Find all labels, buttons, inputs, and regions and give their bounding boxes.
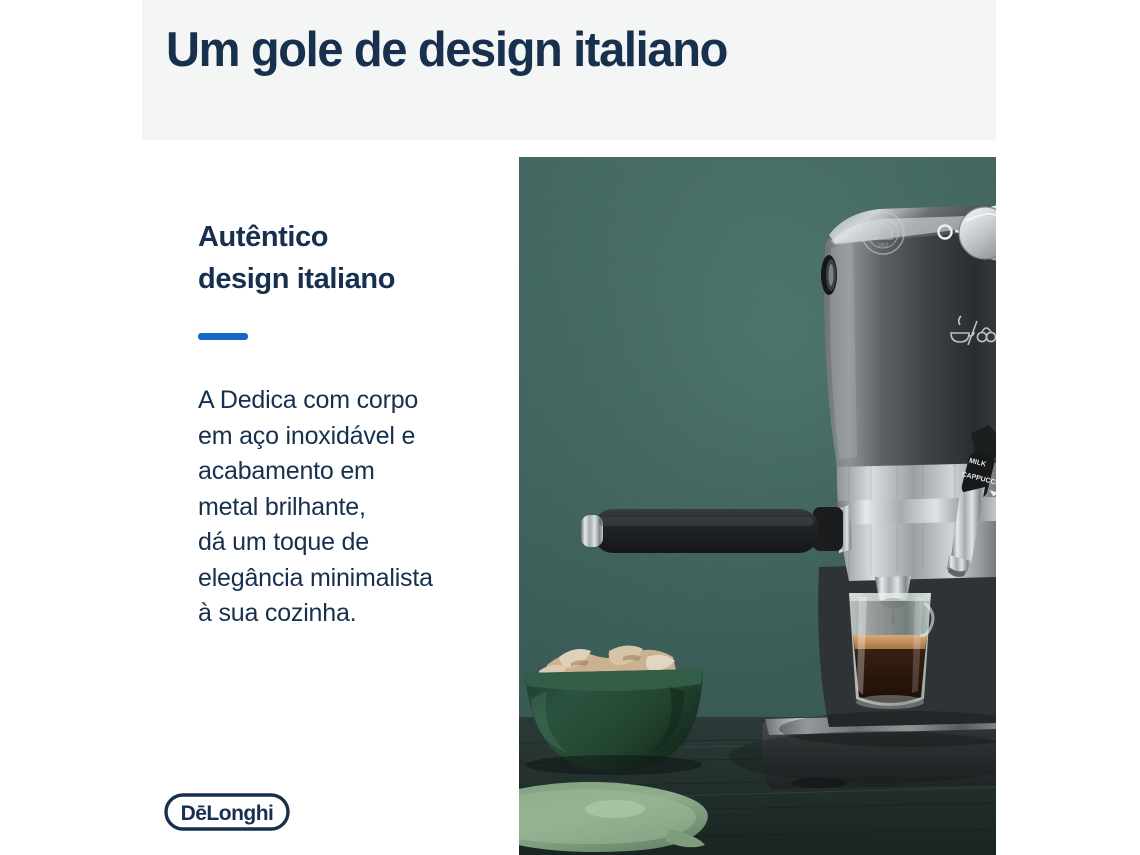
page-title: Um gole de design italiano [166, 26, 727, 75]
blue-accent-rule [198, 333, 248, 340]
body-line: à sua cozinha. [198, 599, 356, 627]
body-line: metal brilhante, [198, 493, 366, 521]
promo-panel: Um gole de design italiano Autêntico des… [0, 0, 1140, 855]
delonghi-logo: DēLonghi [164, 793, 290, 831]
body-line: em aço inoxidável e [198, 422, 415, 450]
subheading-line-2: design italiano [198, 263, 395, 295]
body-line: A Dedica com corpo [198, 386, 418, 414]
body-line: elegância minimalista [198, 564, 433, 592]
side-dial [821, 255, 837, 295]
svg-text:1902: 1902 [877, 243, 888, 249]
espresso-cup [849, 593, 933, 709]
product-photo: 1902 [519, 157, 996, 855]
svg-text:DēLonghi: DēLonghi [181, 802, 274, 825]
body-line: acabamento em [198, 457, 375, 485]
body-line: dá um toque de [198, 528, 369, 556]
subheading-line-1: Autêntico [198, 221, 328, 253]
feature-subheading: Autêntico design italiano [198, 216, 395, 300]
feature-body-text: A Dedica com corpo em aço inoxidável e a… [198, 383, 498, 632]
